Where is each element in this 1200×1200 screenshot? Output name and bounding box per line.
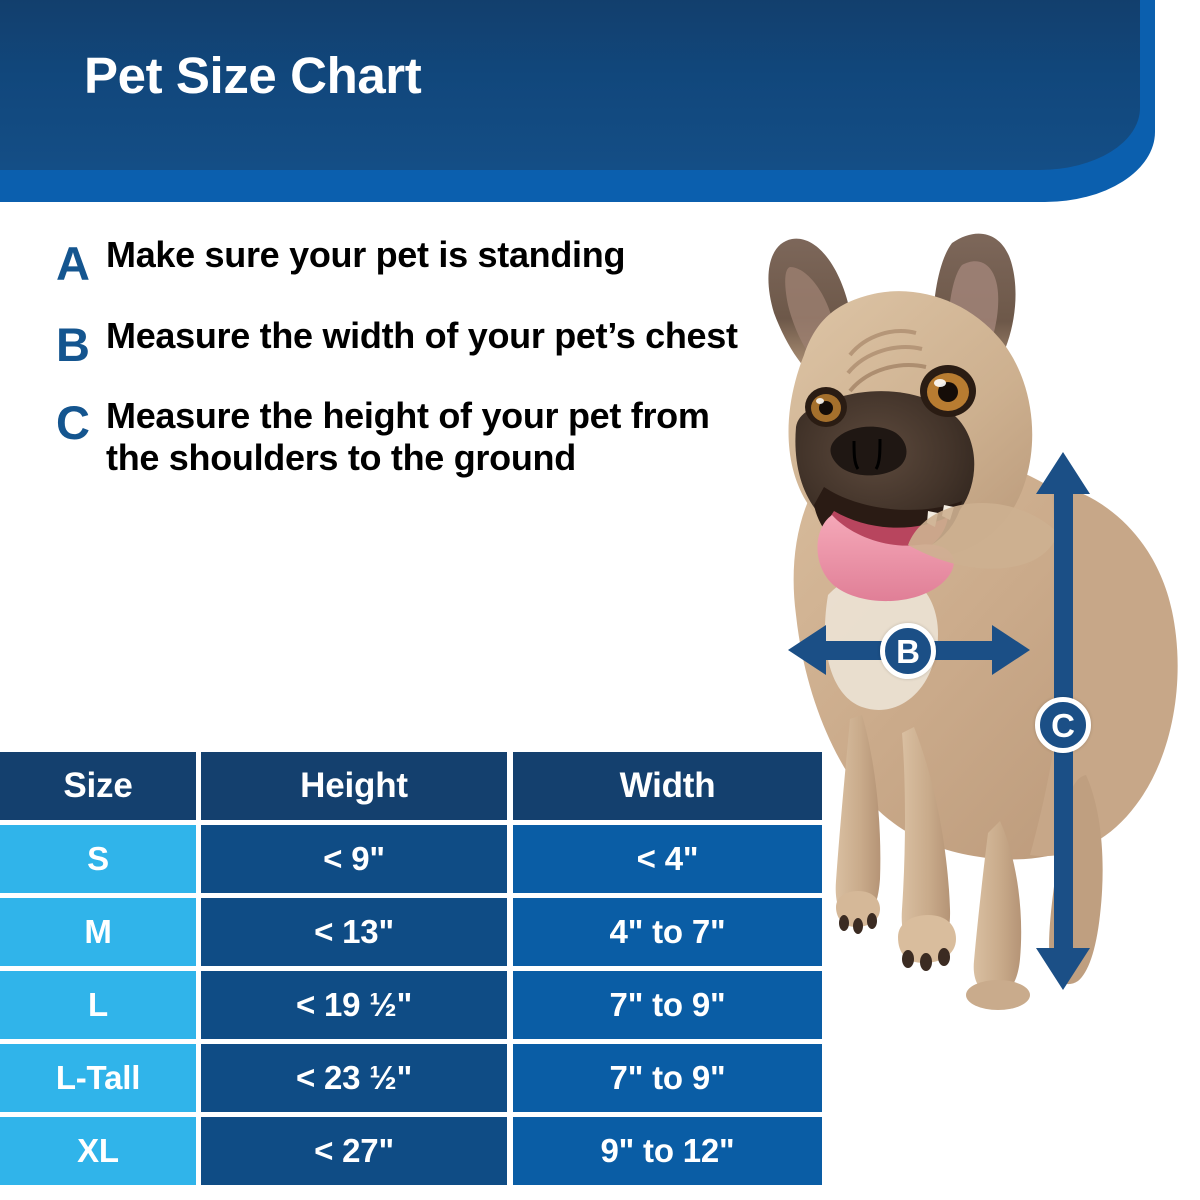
- column-header-height: Height: [201, 752, 507, 820]
- cell-height: < 23 ½": [201, 1044, 507, 1112]
- cell-size: S: [0, 825, 196, 893]
- marker-b: B: [880, 623, 936, 679]
- instruction-b: B Measure the width of your pet’s chest: [40, 313, 750, 372]
- dog-eye-glint-left: [816, 398, 824, 404]
- cell-height: < 9": [201, 825, 507, 893]
- table-row: L < 19 ½" 7" to 9": [0, 971, 822, 1039]
- column-header-size: Size: [0, 752, 196, 820]
- cell-size: L-Tall: [0, 1044, 196, 1112]
- cell-height: < 13": [201, 898, 507, 966]
- marker-c: C: [1035, 697, 1091, 753]
- table-row: L-Tall < 23 ½" 7" to 9": [0, 1044, 822, 1112]
- dog-eye-glint-right: [934, 379, 946, 387]
- cell-height: < 27": [201, 1117, 507, 1185]
- cell-width: 7" to 9": [513, 1044, 822, 1112]
- table-header-row: Size Height Width: [0, 752, 822, 820]
- page-header: Pet Size Chart: [0, 0, 1200, 205]
- instruction-letter-a: A: [40, 232, 106, 291]
- size-table: Size Height Width S < 9" < 4" M < 13" 4"…: [0, 752, 822, 1185]
- table-row: S < 9" < 4": [0, 825, 822, 893]
- cell-width: < 4": [513, 825, 822, 893]
- cell-width: 4" to 7": [513, 898, 822, 966]
- instruction-text-c: Measure the height of your pet from the …: [106, 393, 750, 479]
- instruction-text-b: Measure the width of your pet’s chest: [106, 313, 738, 357]
- cell-height: < 19 ½": [201, 971, 507, 1039]
- page-title: Pet Size Chart: [84, 46, 421, 105]
- cell-size: L: [0, 971, 196, 1039]
- table-row: XL < 27" 9" to 12": [0, 1117, 822, 1185]
- dog-rear-paw: [966, 980, 1030, 1010]
- table-row: M < 13" 4" to 7": [0, 898, 822, 966]
- instruction-letter-b: B: [40, 313, 106, 372]
- cell-size: M: [0, 898, 196, 966]
- instructions-list: A Make sure your pet is standing B Measu…: [40, 232, 750, 501]
- instruction-c: C Measure the height of your pet from th…: [40, 393, 750, 479]
- instruction-letter-c: C: [40, 393, 106, 450]
- instruction-text-a: Make sure your pet is standing: [106, 232, 625, 276]
- column-header-width: Width: [513, 752, 822, 820]
- cell-width: 7" to 9": [513, 971, 822, 1039]
- cell-size: XL: [0, 1117, 196, 1185]
- pet-size-chart-page: Pet Size Chart: [0, 0, 1200, 1200]
- cell-width: 9" to 12": [513, 1117, 822, 1185]
- instruction-a: A Make sure your pet is standing: [40, 232, 750, 291]
